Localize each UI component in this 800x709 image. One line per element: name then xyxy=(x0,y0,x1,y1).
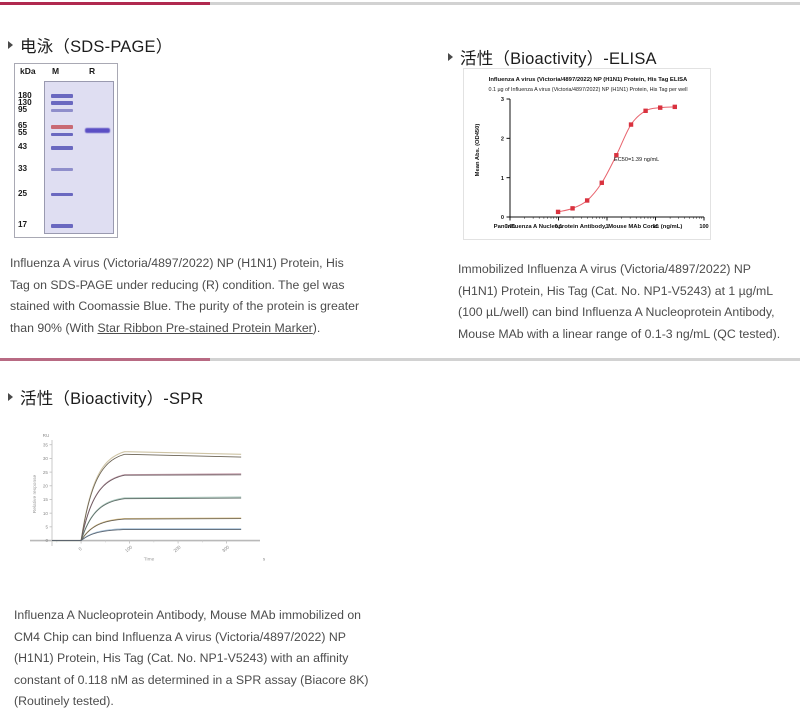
spr-y-tick-label: 30 xyxy=(43,456,49,461)
spr-y-tick-label: 35 xyxy=(43,442,49,447)
gel-ladder-label: 95 xyxy=(18,106,44,114)
elisa-y-tick-label: 3 xyxy=(501,97,504,103)
elisa-ec50-annotation: EC50=1.39 ng/mL xyxy=(614,157,659,163)
product-figure-page: 电泳（SDS-PAGE） kDa M R 1801309565554333251… xyxy=(0,0,800,709)
spr-y-tick-label: 10 xyxy=(43,511,49,516)
spr-fit-curve xyxy=(52,529,241,541)
triangle-bullet-icon xyxy=(8,41,13,49)
gel-lane-area xyxy=(44,81,114,234)
section-heading-sds-page-label: 电泳（SDS-PAGE） xyxy=(20,33,172,57)
elisa-y-axis-label: Mean Abs. (OD450) xyxy=(475,110,481,190)
spr-sensorgram-curve xyxy=(52,475,241,541)
caption-elisa: Immobilized Influenza A virus (Victoria/… xyxy=(458,259,793,345)
marker-product-link[interactable]: Star Ribbon Pre-stained Protein Marker xyxy=(97,321,312,335)
triangle-bullet-icon xyxy=(448,53,453,61)
elisa-data-point xyxy=(629,123,632,126)
caption-sds-page-text2: ). xyxy=(313,321,321,335)
section-heading-elisa: 活性（Bioactivity）-ELISA xyxy=(448,45,657,69)
section-divider-middle xyxy=(0,358,800,361)
elisa-data-point xyxy=(571,207,574,210)
spr-x-tick-label: 300 xyxy=(221,544,230,553)
gel-marker-band xyxy=(51,101,73,105)
spr-x-tick-label: 200 xyxy=(173,544,182,553)
spr-y-tick-label: 20 xyxy=(43,483,49,488)
elisa-chart-subtitle: 0.1 µg of Influenza A virus (Victoria/48… xyxy=(468,86,708,94)
gel-header-kda: kDa xyxy=(20,66,36,76)
elisa-plot-svg: 0.010.11101000123 xyxy=(464,69,712,241)
gel-marker-band xyxy=(51,224,73,228)
gel-marker-band xyxy=(51,109,73,112)
gel-marker-band xyxy=(51,146,73,150)
spr-x-tick-label: 100 xyxy=(124,544,133,553)
section-divider-top xyxy=(0,2,800,5)
sds-page-gel-image: kDa M R 18013095655543332517 xyxy=(14,63,118,238)
spr-y-tick-label: 15 xyxy=(43,497,49,502)
spr-x-axis-label: Time xyxy=(144,557,155,563)
elisa-chart-figure: Influenza A virus (Victoria/4897/2022) N… xyxy=(463,68,711,240)
divider-accent xyxy=(0,2,210,5)
elisa-data-point xyxy=(659,106,662,109)
gel-ladder-label: 33 xyxy=(18,165,44,173)
caption-sds-page: Influenza A virus (Victoria/4897/2022) N… xyxy=(10,253,360,339)
elisa-data-point xyxy=(556,210,559,213)
gel-ladder-label: 17 xyxy=(18,221,44,229)
gel-ladder-labels: 18013095655543332517 xyxy=(18,80,44,237)
section-heading-sds-page: 电泳（SDS-PAGE） xyxy=(8,33,172,57)
gel-lane-headers: kDa M R xyxy=(15,66,117,80)
gel-ladder-label: 43 xyxy=(18,143,44,151)
gel-marker-band xyxy=(51,94,73,98)
spr-fit-curve xyxy=(52,474,241,541)
elisa-chart-title: Influenza A virus (Victoria/4897/2022) N… xyxy=(470,76,706,84)
section-heading-spr: 活性（Bioactivity）-SPR xyxy=(8,385,204,409)
gel-marker-band xyxy=(51,125,73,129)
elisa-data-point xyxy=(600,181,603,184)
gel-ladder-label: 25 xyxy=(18,190,44,198)
gel-header-marker: M xyxy=(52,66,59,76)
triangle-bullet-icon xyxy=(8,393,13,401)
spr-y-tick-label: 25 xyxy=(43,470,49,475)
section-heading-spr-label: 活性（Bioactivity）-SPR xyxy=(20,385,204,409)
elisa-data-point xyxy=(644,109,647,112)
elisa-data-point xyxy=(585,199,588,202)
spr-sensorgram-curve xyxy=(52,530,241,541)
gel-header-reducing: R xyxy=(89,66,95,76)
spr-y-axis-label: Relative response xyxy=(32,474,38,513)
elisa-x-axis-label: Pan Influenza A Nucleoprotein Antibody, … xyxy=(470,224,706,230)
gel-marker-band xyxy=(51,193,73,196)
divider-accent xyxy=(0,358,210,361)
spr-fit-curve xyxy=(52,452,241,541)
spr-y-tick-label: 0 xyxy=(45,538,48,543)
spr-x-tick-label: 0 xyxy=(78,546,84,552)
gel-marker-band xyxy=(51,168,73,171)
gel-ladder-label: 55 xyxy=(18,129,44,137)
spr-x-unit-label: s xyxy=(263,557,266,562)
elisa-y-tick-label: 1 xyxy=(501,176,504,182)
elisa-y-tick-label: 0 xyxy=(501,215,504,221)
gel-marker-band xyxy=(51,133,73,136)
spr-y-unit-label: RU xyxy=(43,433,50,438)
elisa-y-tick-label: 2 xyxy=(501,137,504,143)
spr-plot-svg: RU051015202530350100200300TimesRelative … xyxy=(14,428,276,580)
elisa-data-point xyxy=(673,105,676,108)
section-heading-elisa-label: 活性（Bioactivity）-ELISA xyxy=(460,45,657,69)
spr-sensorgram-figure: RU051015202530350100200300TimesRelative … xyxy=(14,428,276,580)
spr-y-tick-label: 5 xyxy=(45,525,48,530)
gel-sample-band xyxy=(85,128,110,133)
caption-spr: Influenza A Nucleoprotein Antibody, Mous… xyxy=(14,605,369,709)
